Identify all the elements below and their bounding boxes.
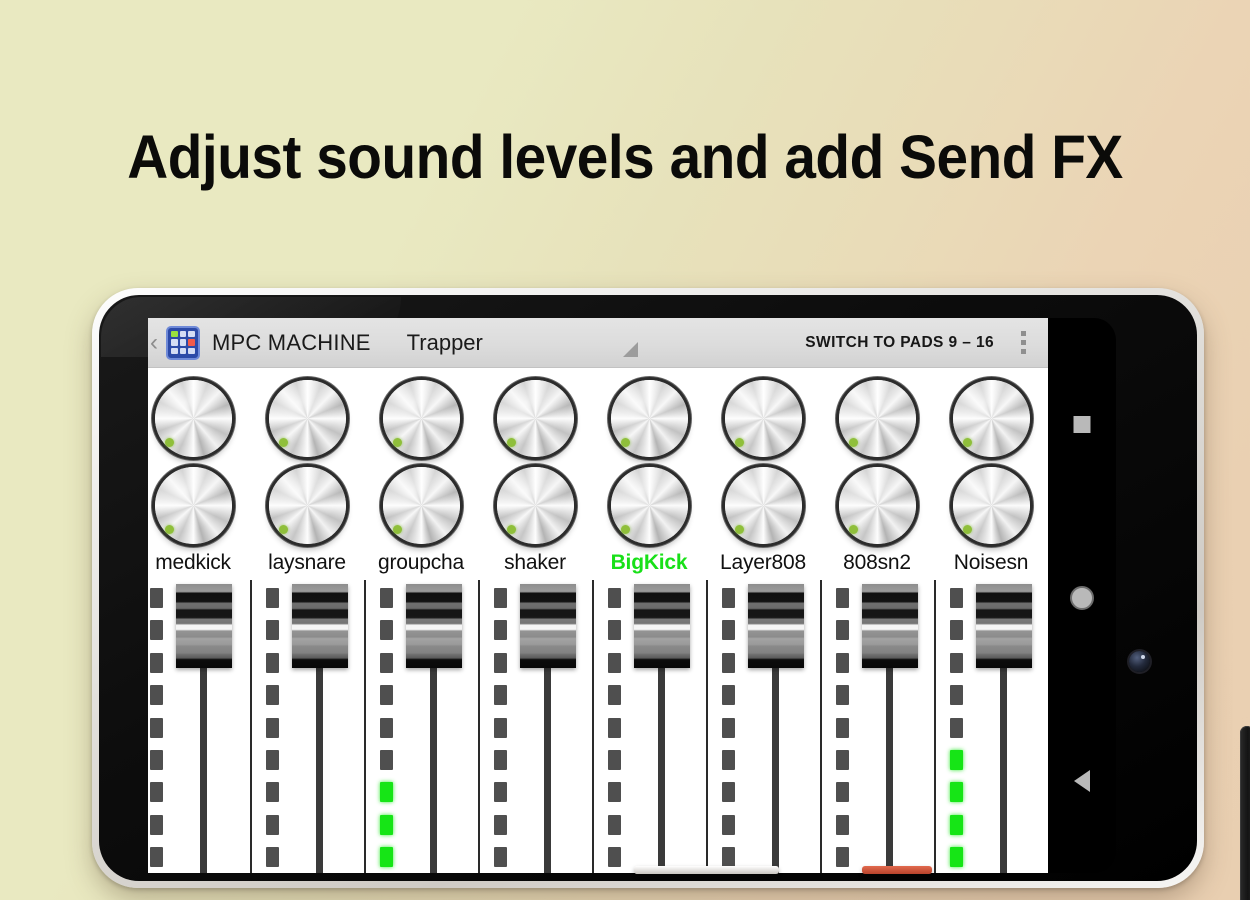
pan-knob[interactable] bbox=[383, 380, 460, 457]
meter-segment bbox=[494, 815, 507, 835]
fader-handle[interactable] bbox=[634, 584, 690, 668]
channel-label[interactable]: laysnare bbox=[268, 550, 346, 576]
meter-segment bbox=[494, 653, 507, 673]
knob-led-icon bbox=[849, 438, 858, 447]
fader-track[interactable] bbox=[886, 654, 893, 873]
meter-segment bbox=[608, 685, 621, 705]
meter-segment bbox=[266, 653, 279, 673]
channel-label[interactable]: Noisesn bbox=[954, 550, 1028, 576]
level-meter bbox=[722, 588, 735, 867]
send-fx-knob[interactable] bbox=[725, 467, 802, 544]
knob-led-icon bbox=[165, 438, 174, 447]
fader-handle[interactable] bbox=[176, 584, 232, 668]
meter-segment bbox=[608, 815, 621, 835]
meter-segment bbox=[722, 815, 735, 835]
phone-screen: ‹ MPC MACHINE Trapper SWITCH TO PADS 9 –… bbox=[148, 318, 1048, 873]
meter-segment bbox=[266, 588, 279, 608]
send-fx-knob[interactable] bbox=[497, 467, 574, 544]
channel-strip bbox=[148, 580, 250, 873]
knob-led-icon bbox=[507, 438, 516, 447]
meter-segment bbox=[608, 653, 621, 673]
meter-segment bbox=[722, 620, 735, 640]
level-meter bbox=[608, 588, 621, 867]
meter-segment bbox=[722, 653, 735, 673]
meter-segment bbox=[836, 653, 849, 673]
meter-segment bbox=[266, 620, 279, 640]
fader-track[interactable] bbox=[772, 654, 779, 873]
fader-handle[interactable] bbox=[406, 584, 462, 668]
knob-led-icon bbox=[165, 525, 174, 534]
front-camera-icon bbox=[1129, 651, 1150, 672]
phone-device: ‹ MPC MACHINE Trapper SWITCH TO PADS 9 –… bbox=[92, 288, 1204, 888]
triangle-back-icon[interactable] bbox=[1074, 770, 1090, 792]
meter-segment bbox=[950, 718, 963, 738]
level-meter bbox=[950, 588, 963, 867]
channel-strip bbox=[706, 580, 820, 873]
fader-handle[interactable] bbox=[748, 584, 804, 668]
chevron-left-icon[interactable]: ‹ bbox=[148, 331, 164, 355]
meter-segment bbox=[266, 782, 279, 802]
meter-segment bbox=[722, 782, 735, 802]
fader-handle[interactable] bbox=[862, 584, 918, 668]
meter-segment bbox=[836, 620, 849, 640]
meter-segment bbox=[380, 782, 393, 802]
meter-segment bbox=[494, 847, 507, 867]
knob-led-icon bbox=[393, 525, 402, 534]
mixer-channel: laysnare bbox=[250, 368, 364, 873]
kit-name-label[interactable]: Trapper bbox=[407, 330, 483, 356]
channel-strip bbox=[820, 580, 934, 873]
level-meter bbox=[836, 588, 849, 867]
meter-segment bbox=[836, 847, 849, 867]
meter-segment bbox=[266, 718, 279, 738]
meter-segment bbox=[380, 685, 393, 705]
meter-segment bbox=[608, 782, 621, 802]
meter-segment bbox=[836, 718, 849, 738]
meter-segment bbox=[608, 847, 621, 867]
knob-led-icon bbox=[393, 438, 402, 447]
send-fx-knob[interactable] bbox=[839, 467, 916, 544]
pan-knob[interactable] bbox=[953, 380, 1030, 457]
mixer-panel: medkicklaysnaregroupchashakerBigKickLaye… bbox=[148, 368, 1048, 873]
send-fx-knob[interactable] bbox=[953, 467, 1030, 544]
knob-led-icon bbox=[621, 438, 630, 447]
meter-segment bbox=[150, 750, 163, 770]
pan-knob[interactable] bbox=[497, 380, 574, 457]
channel-strip bbox=[478, 580, 592, 873]
more-vertical-icon[interactable] bbox=[1006, 331, 1040, 354]
level-meter bbox=[380, 588, 393, 867]
pan-knob[interactable] bbox=[155, 380, 232, 457]
android-navigation-bar bbox=[1048, 318, 1116, 873]
meter-segment bbox=[950, 847, 963, 867]
meter-segment bbox=[266, 815, 279, 835]
device-bottom-edge-silver bbox=[634, 866, 779, 874]
meter-segment bbox=[150, 815, 163, 835]
meter-segment bbox=[494, 685, 507, 705]
meter-segment bbox=[950, 782, 963, 802]
meter-segment bbox=[836, 815, 849, 835]
mixer-channel: Noisesn bbox=[934, 368, 1048, 873]
mpc-grid-icon[interactable] bbox=[166, 326, 200, 360]
meter-segment bbox=[950, 620, 963, 640]
meter-segment bbox=[150, 718, 163, 738]
meter-segment bbox=[150, 847, 163, 867]
meter-segment bbox=[836, 750, 849, 770]
device-bottom-edge-accent bbox=[862, 866, 932, 874]
mixer-channel: groupcha bbox=[364, 368, 478, 873]
meter-segment bbox=[608, 750, 621, 770]
knob-led-icon bbox=[279, 438, 288, 447]
meter-segment bbox=[266, 750, 279, 770]
fader-track[interactable] bbox=[544, 654, 551, 873]
meter-segment bbox=[494, 718, 507, 738]
fader-track[interactable] bbox=[316, 654, 323, 873]
meter-segment bbox=[722, 718, 735, 738]
meter-segment bbox=[608, 588, 621, 608]
level-meter bbox=[494, 588, 507, 867]
meter-segment bbox=[150, 653, 163, 673]
mixer-channel: BigKick bbox=[592, 368, 706, 873]
meter-segment bbox=[950, 653, 963, 673]
knob-led-icon bbox=[735, 438, 744, 447]
mixer-channel: Layer808 bbox=[706, 368, 820, 873]
channel-strip bbox=[934, 580, 1048, 873]
meter-segment bbox=[494, 588, 507, 608]
mixer-channel: 808sn2 bbox=[820, 368, 934, 873]
knob-led-icon bbox=[507, 525, 516, 534]
mixer-channel: shaker bbox=[478, 368, 592, 873]
meter-segment bbox=[608, 718, 621, 738]
channel-label[interactable]: groupcha bbox=[378, 550, 464, 576]
meter-segment bbox=[608, 620, 621, 640]
send-fx-knob[interactable] bbox=[383, 467, 460, 544]
send-fx-knob[interactable] bbox=[269, 467, 346, 544]
fader-handle[interactable] bbox=[976, 584, 1032, 668]
meter-segment bbox=[722, 750, 735, 770]
square-recents-icon[interactable] bbox=[1074, 416, 1091, 433]
meter-segment bbox=[950, 815, 963, 835]
meter-segment bbox=[266, 847, 279, 867]
meter-segment bbox=[494, 750, 507, 770]
meter-segment bbox=[380, 620, 393, 640]
channel-label[interactable]: 808sn2 bbox=[843, 550, 911, 576]
page-title: Adjust sound levels and add Send FX bbox=[44, 122, 1207, 192]
pan-knob[interactable] bbox=[269, 380, 346, 457]
app-title: MPC MACHINE bbox=[212, 330, 371, 356]
level-meter bbox=[266, 588, 279, 867]
meter-segment bbox=[380, 588, 393, 608]
app-bar: ‹ MPC MACHINE Trapper SWITCH TO PADS 9 –… bbox=[148, 318, 1048, 368]
meter-segment bbox=[380, 815, 393, 835]
switch-to-pads-button[interactable]: SWITCH TO PADS 9 – 16 bbox=[805, 334, 994, 352]
power-button[interactable] bbox=[1240, 726, 1250, 900]
fader-track[interactable] bbox=[1000, 654, 1007, 873]
meter-segment bbox=[380, 750, 393, 770]
meter-segment bbox=[722, 847, 735, 867]
knob-led-icon bbox=[963, 525, 972, 534]
meter-segment bbox=[722, 588, 735, 608]
fader-track[interactable] bbox=[430, 654, 437, 873]
pan-knob[interactable] bbox=[611, 380, 688, 457]
pan-knob[interactable] bbox=[839, 380, 916, 457]
knob-led-icon bbox=[735, 525, 744, 534]
channel-label[interactable]: BigKick bbox=[611, 550, 688, 576]
knob-led-icon bbox=[963, 438, 972, 447]
meter-segment bbox=[836, 685, 849, 705]
mixer-channel: medkick bbox=[148, 368, 250, 873]
send-fx-knob[interactable] bbox=[155, 467, 232, 544]
meter-segment bbox=[266, 685, 279, 705]
knob-led-icon bbox=[279, 525, 288, 534]
meter-segment bbox=[380, 653, 393, 673]
channel-label[interactable]: medkick bbox=[155, 550, 231, 576]
meter-segment bbox=[494, 620, 507, 640]
meter-segment bbox=[380, 718, 393, 738]
channel-strip bbox=[364, 580, 478, 873]
knob-led-icon bbox=[621, 525, 630, 534]
meter-segment bbox=[722, 685, 735, 705]
fader-track[interactable] bbox=[658, 654, 665, 873]
fader-track[interactable] bbox=[200, 654, 207, 873]
channel-strip bbox=[250, 580, 364, 873]
triangle-resize-icon[interactable] bbox=[623, 342, 638, 357]
channel-label[interactable]: shaker bbox=[504, 550, 566, 576]
pan-knob[interactable] bbox=[725, 380, 802, 457]
channel-label[interactable]: Layer808 bbox=[720, 550, 806, 576]
meter-segment bbox=[150, 620, 163, 640]
meter-segment bbox=[494, 782, 507, 802]
meter-segment bbox=[150, 588, 163, 608]
meter-segment bbox=[950, 588, 963, 608]
meter-segment bbox=[836, 588, 849, 608]
meter-segment bbox=[836, 782, 849, 802]
meter-segment bbox=[380, 847, 393, 867]
fader-handle[interactable] bbox=[292, 584, 348, 668]
knob-led-icon bbox=[849, 525, 858, 534]
meter-segment bbox=[150, 782, 163, 802]
send-fx-knob[interactable] bbox=[611, 467, 688, 544]
meter-segment bbox=[150, 685, 163, 705]
level-meter bbox=[150, 588, 163, 867]
circle-home-icon[interactable] bbox=[1070, 586, 1094, 610]
meter-segment bbox=[950, 750, 963, 770]
meter-segment bbox=[950, 685, 963, 705]
channel-strip bbox=[592, 580, 706, 873]
fader-handle[interactable] bbox=[520, 584, 576, 668]
